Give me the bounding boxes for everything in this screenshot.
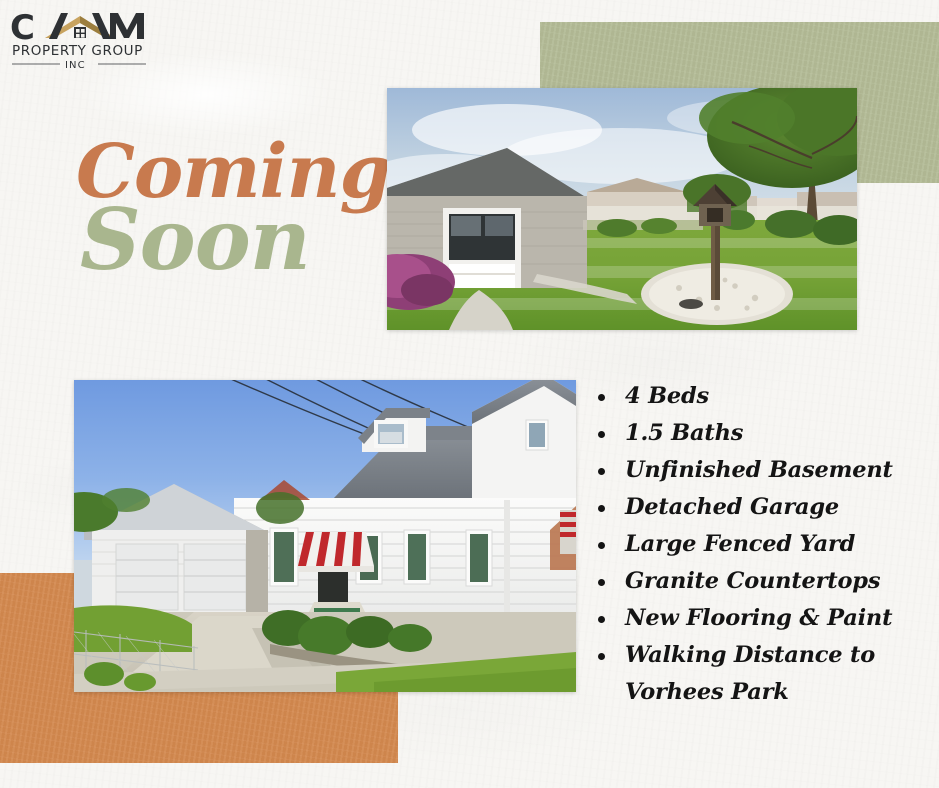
list-item: Detached Garage [592, 489, 922, 526]
property-photo-backyard [387, 88, 857, 330]
bullet-icon [598, 542, 605, 549]
bullet-icon [598, 653, 605, 660]
svg-text:PROPERTY GROUP: PROPERTY GROUP [12, 43, 143, 59]
list-item: Unfinished Basement [592, 452, 922, 489]
feature-label: 4 Beds [625, 383, 709, 409]
svg-text:C: C [10, 8, 36, 48]
property-feature-list: 4 Beds 1.5 Baths Unfinished Basement Det… [592, 378, 922, 711]
feature-label: New Flooring & Paint [625, 605, 892, 631]
list-item: 1.5 Baths [592, 415, 922, 452]
feature-label: Unfinished Basement [625, 457, 893, 483]
feature-label: Walking Distance to Vorhees Park [625, 642, 875, 705]
list-item: 4 Beds [592, 378, 922, 415]
page-title: Coming Soon [76, 138, 390, 279]
bullet-icon [598, 431, 605, 438]
feature-label: Detached Garage [625, 494, 839, 520]
bullet-icon [598, 616, 605, 623]
list-item: Granite Countertops [592, 563, 922, 600]
flyer-canvas: C A PROPERTY GROUP INC Coming Soon [0, 0, 939, 788]
list-item: New Flooring & Paint [592, 600, 922, 637]
property-photo-exterior [74, 380, 576, 692]
feature-label: Large Fenced Yard [625, 531, 855, 557]
company-logo: C A PROPERTY GROUP INC [8, 8, 158, 70]
list-item: Large Fenced Yard [592, 526, 922, 563]
list-item: Walking Distance to Vorhees Park [592, 637, 922, 711]
svg-text:INC: INC [65, 60, 86, 70]
feature-label: Granite Countertops [625, 568, 880, 594]
bullet-icon [598, 394, 605, 401]
bullet-icon [598, 505, 605, 512]
bullet-icon [598, 579, 605, 586]
feature-label: 1.5 Baths [625, 420, 743, 446]
bullet-icon [598, 468, 605, 475]
